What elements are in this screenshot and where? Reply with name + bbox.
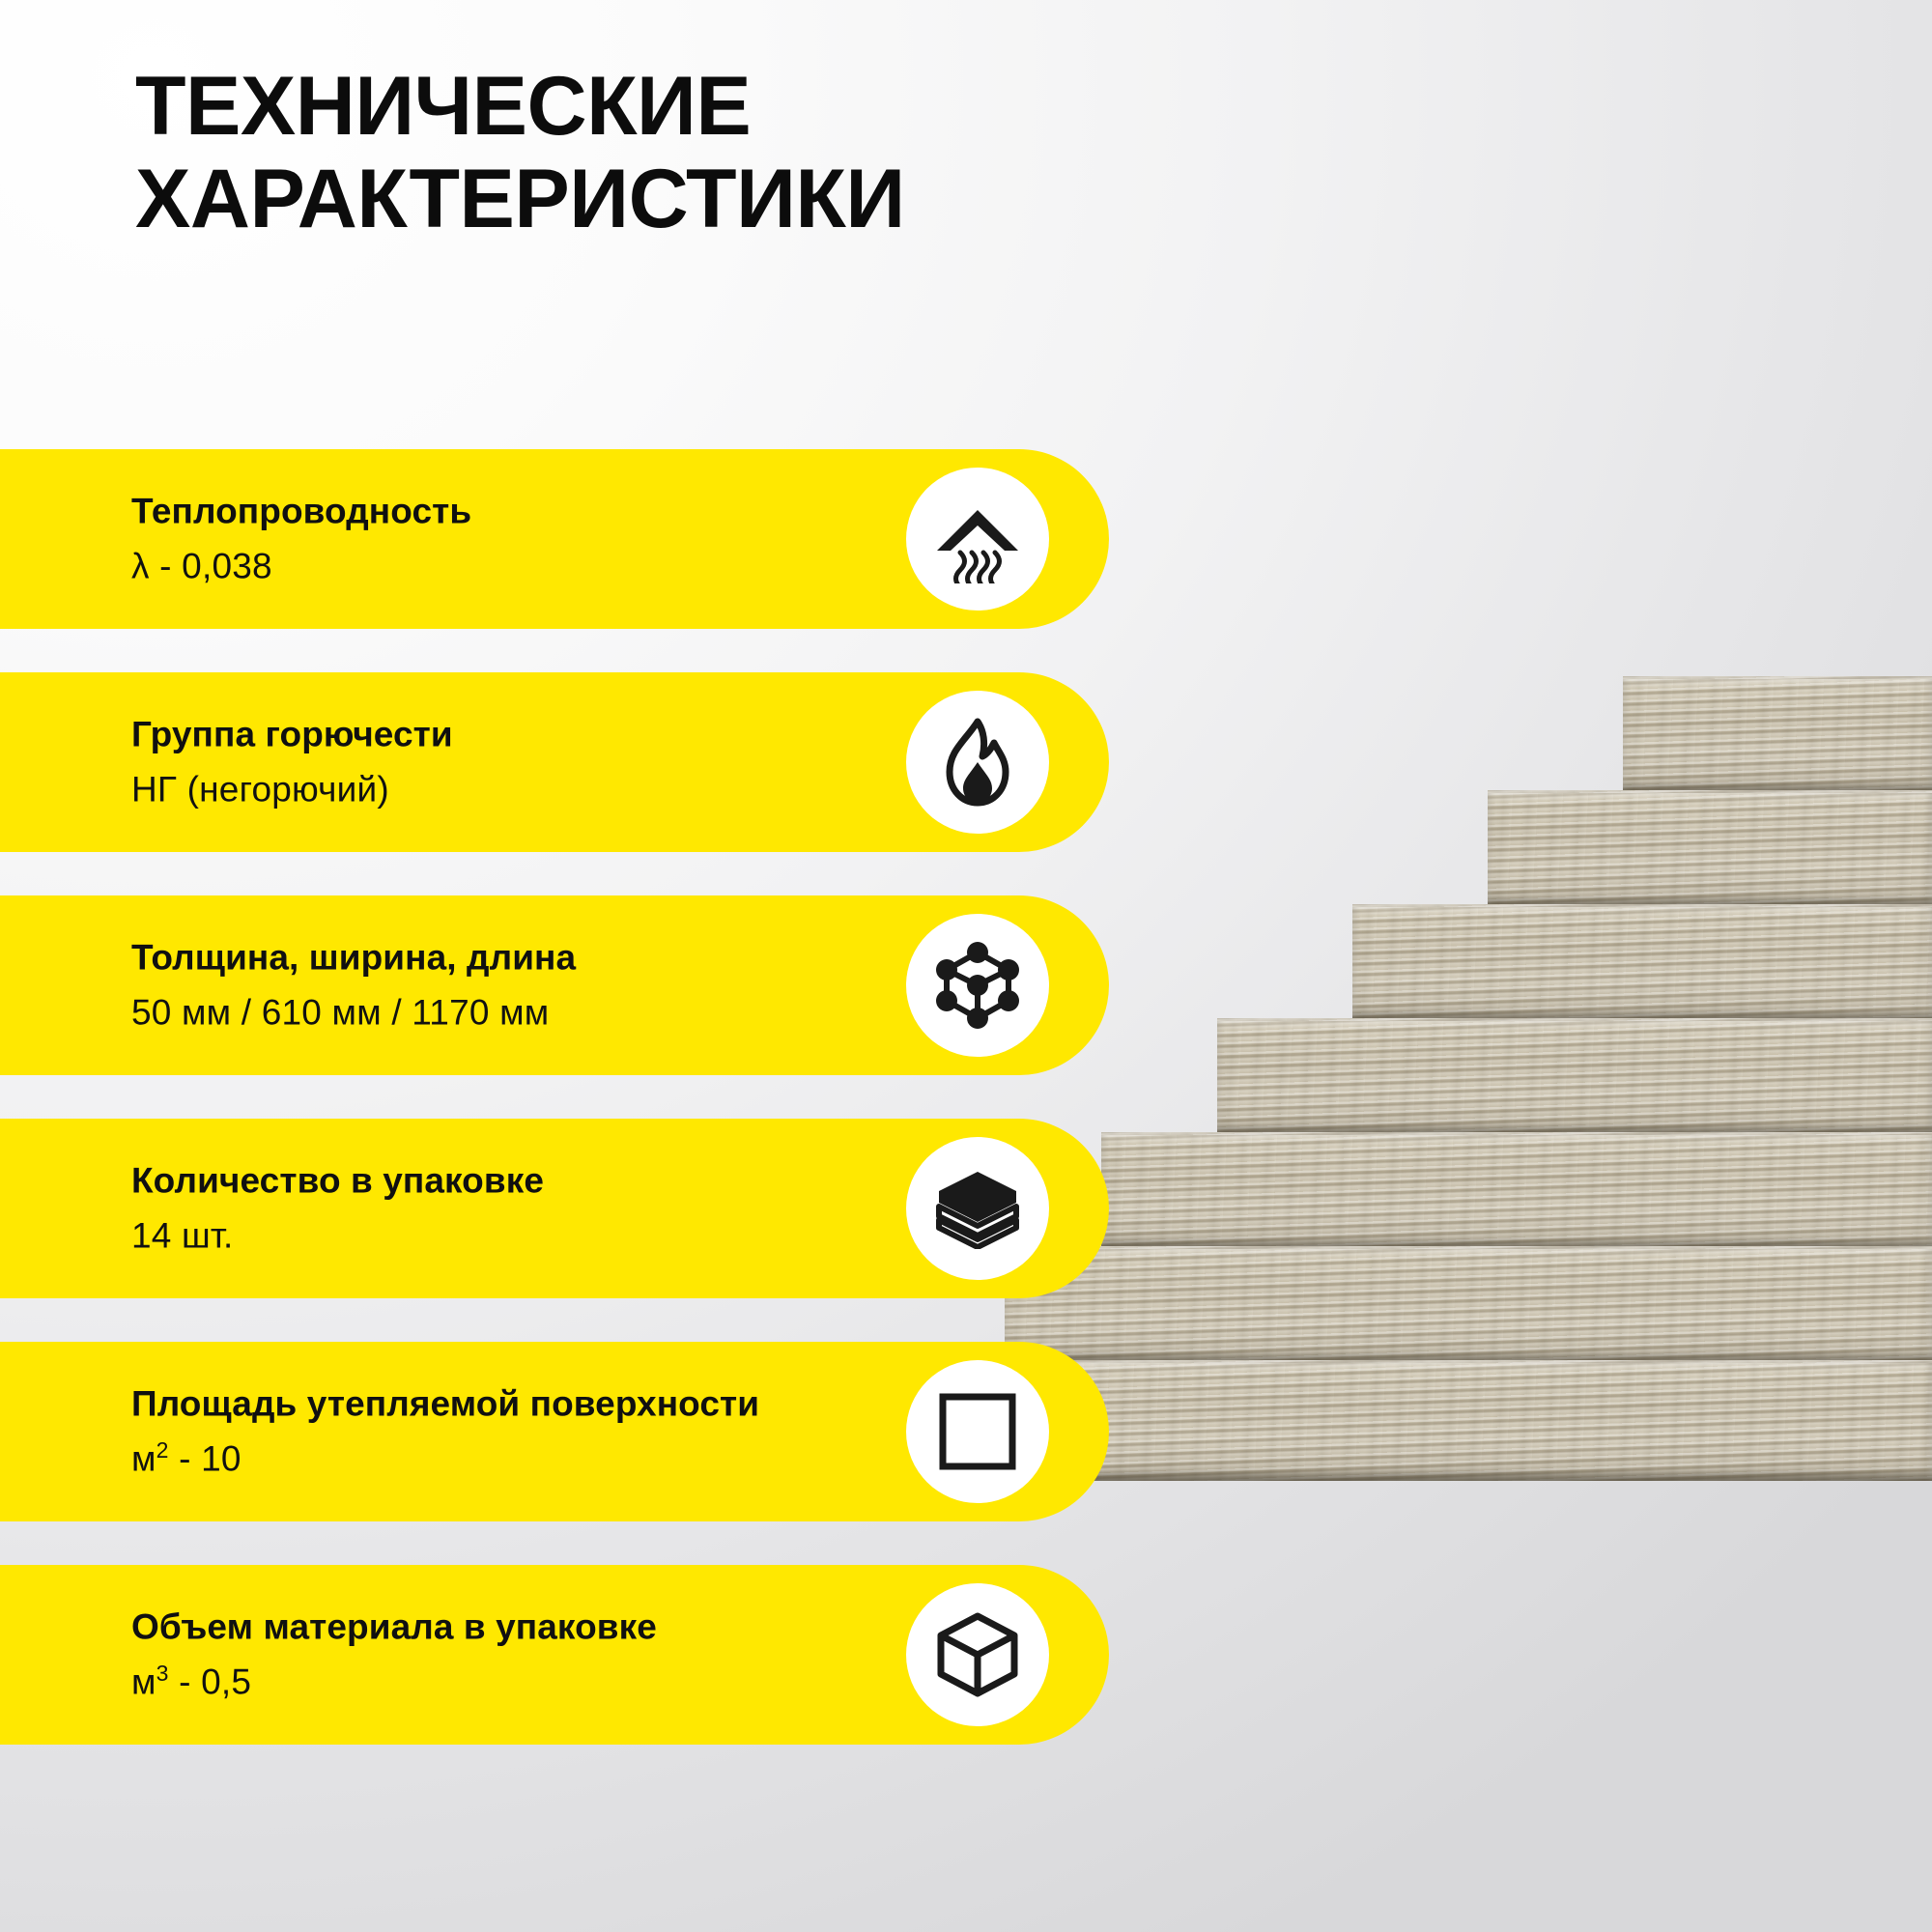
spec-value: λ - 0,038	[131, 547, 471, 586]
infographic-canvas: ТЕХНИЧЕСКИЕ ХАРАКТЕРИСТИКИ Теплопроводно…	[0, 0, 1932, 1932]
spec-text-block: Количество в упаковке 14 шт.	[131, 1161, 544, 1255]
spec-row-material-volume[interactable]: Объем материала в упаковке м3 - 0,5	[0, 1565, 1109, 1745]
page-title: ТЕХНИЧЕСКИЕ ХАРАКТЕРИСТИКИ	[135, 60, 1198, 246]
heat-conductivity-icon	[933, 495, 1022, 583]
spec-title: Теплопроводность	[131, 492, 471, 531]
spec-value: м2 - 10	[131, 1439, 759, 1479]
spec-text-block: Толщина, ширина, длина 50 мм / 610 мм / …	[131, 938, 576, 1032]
spec-title: Группа горючести	[131, 715, 453, 754]
spec-icon-badge	[906, 691, 1049, 834]
spec-value: 50 мм / 610 мм / 1170 мм	[131, 993, 576, 1033]
spec-row-thermal-conductivity[interactable]: Теплопроводность λ - 0,038	[0, 449, 1109, 629]
spec-row-flammability-group[interactable]: Группа горючести НГ (негорючий)	[0, 672, 1109, 852]
spec-value: 14 шт.	[131, 1216, 544, 1256]
spec-icon-badge	[906, 1360, 1049, 1503]
square-outline-icon	[937, 1391, 1018, 1472]
page-title-line-2: ХАРАКТЕРИСТИКИ	[135, 153, 1198, 245]
stacked-layers-icon	[933, 1168, 1022, 1249]
spec-text-block: Группа горючести НГ (негорючий)	[131, 715, 453, 809]
spec-row-insulated-area[interactable]: Площадь утепляемой поверхности м2 - 10	[0, 1342, 1109, 1521]
spec-icon-badge	[906, 468, 1049, 611]
spec-icon-badge	[906, 914, 1049, 1057]
spec-value: м3 - 0,5	[131, 1662, 657, 1702]
spec-title: Толщина, ширина, длина	[131, 938, 576, 978]
page-title-line-1: ТЕХНИЧЕСКИЕ	[135, 60, 1198, 153]
spec-icon-badge	[906, 1137, 1049, 1280]
spec-text-block: Теплопроводность λ - 0,038	[131, 492, 471, 585]
spec-row-quantity-per-package[interactable]: Количество в упаковке 14 шт.	[0, 1119, 1109, 1298]
cube-nodes-icon	[933, 941, 1022, 1030]
spec-title: Объем материала в упаковке	[131, 1607, 657, 1647]
spec-text-block: Объем материала в упаковке м3 - 0,5	[131, 1607, 657, 1701]
spec-title: Площадь утепляемой поверхности	[131, 1384, 759, 1424]
spec-title: Количество в упаковке	[131, 1161, 544, 1201]
cube-outline-icon	[935, 1610, 1020, 1699]
spec-value: НГ (негорючий)	[131, 770, 453, 810]
spec-text-block: Площадь утепляемой поверхности м2 - 10	[131, 1384, 759, 1478]
spec-row-dimensions[interactable]: Толщина, ширина, длина 50 мм / 610 мм / …	[0, 895, 1109, 1075]
flame-icon	[936, 718, 1019, 807]
spec-icon-badge	[906, 1583, 1049, 1726]
